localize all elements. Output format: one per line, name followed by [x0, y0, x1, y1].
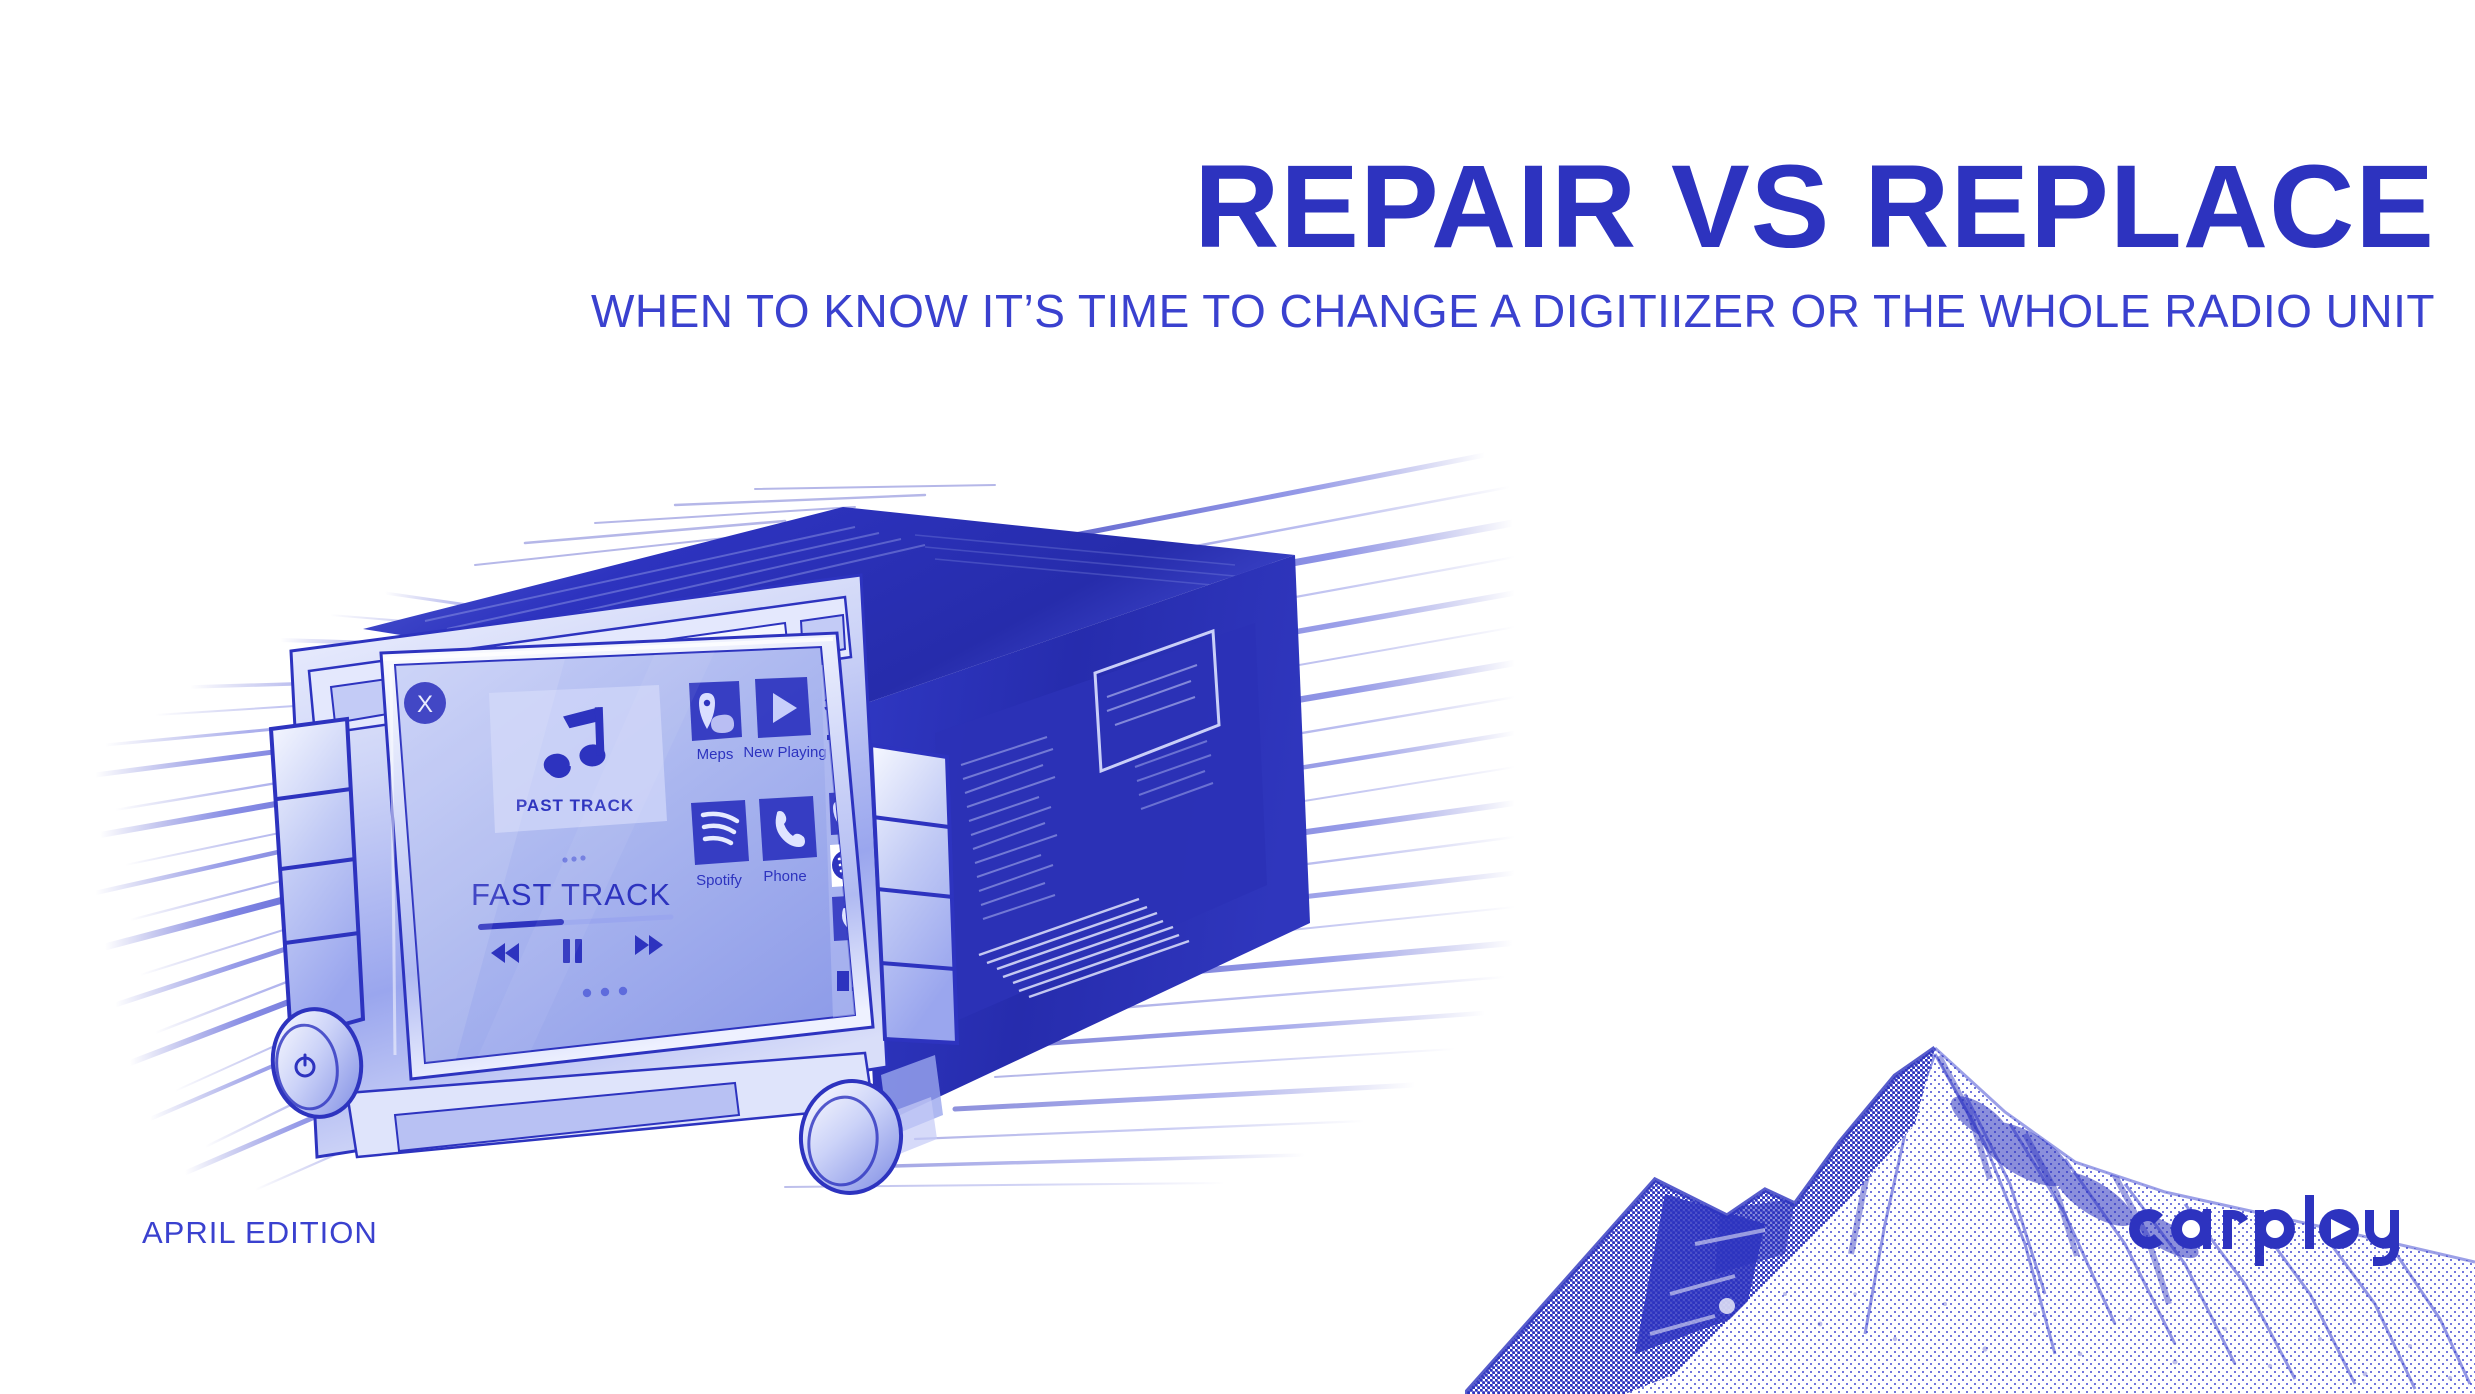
logo-letter-p: [2255, 1209, 2295, 1266]
logo-letter-a: [2171, 1209, 2211, 1249]
poster-canvas: REPAIR VS REPLACE WHEN TO KNOW IT’S TIME…: [0, 0, 2475, 1394]
edition-label: APRIL EDITION: [142, 1215, 378, 1251]
hero-radio-unit: X PAST TRACK: [95, 415, 1515, 1195]
brand-logo[interactable]: carplay: [2113, 1191, 2413, 1269]
logo-letter-y: [2365, 1210, 2399, 1266]
header: REPAIR VS REPLACE WHEN TO KNOW IT’S TIME…: [0, 0, 2475, 334]
logo-letter-c: [2129, 1209, 2163, 1249]
app-label-phone: Phone: [763, 868, 806, 885]
app-label-new-playing: New Playing: [743, 744, 826, 761]
app-label-spotify: Spotify: [696, 872, 742, 889]
logo-play-mark-icon: [2319, 1209, 2359, 1249]
radio-unit-body: X PAST TRACK: [95, 415, 1515, 1195]
page-title: REPAIR VS REPLACE: [0, 0, 2435, 266]
left-button-strip[interactable]: [271, 719, 363, 1039]
page-subtitle: WHEN TO KNOW IT’S TIME TO CHANGE A DIGIT…: [0, 266, 2435, 334]
logo-letter-l: [2305, 1195, 2314, 1249]
app-tile-spotify[interactable]: Spotify: [691, 800, 749, 889]
right-button-strip[interactable]: [871, 745, 957, 1043]
logo-letter-r: [2223, 1210, 2248, 1249]
app-label-maps: Meps: [697, 746, 734, 763]
